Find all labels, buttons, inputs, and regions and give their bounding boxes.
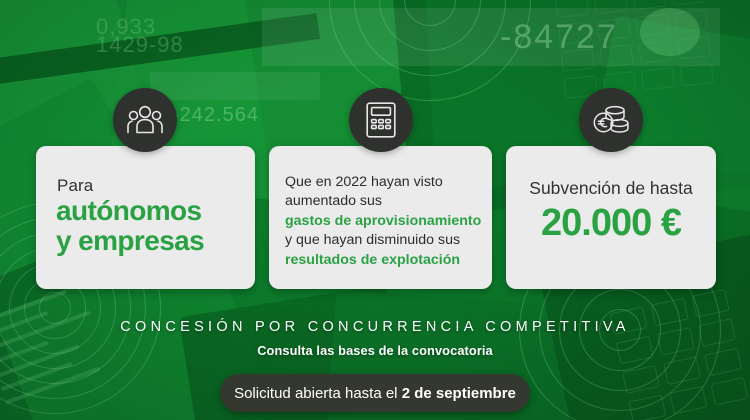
cta-prefix: Solicitud abierta hasta el [234, 385, 402, 402]
cta-date: 2 de septiembre [402, 385, 516, 402]
card-subvencion: Subvención de hasta 20.000 € [506, 146, 716, 289]
badge-calculator [349, 88, 413, 152]
cta-deadline-button[interactable]: Solicitud abierta hasta el 2 de septiemb… [220, 374, 530, 412]
badge-euro-coins [579, 88, 643, 152]
promo-banner: 0,933 1429-98 -84727 -242.564 Para autón… [0, 0, 750, 420]
card-2-line-4: y que hayan disminuido sus [285, 231, 482, 250]
badge-people [113, 88, 177, 152]
card-autonomos: Para autónomos y empresas [36, 146, 255, 289]
card-2-line-3-highlight: gastos de aprovisionamiento [285, 212, 482, 231]
people-group-icon [126, 104, 164, 136]
card-2-text: Que en 2022 hayan visto aumentado sus ga… [285, 173, 482, 270]
card-2-line-1: Que en 2022 hayan visto [285, 173, 482, 192]
card-1-headline: autónomos y empresas [56, 196, 204, 256]
euro-coins-icon [591, 103, 631, 137]
card-2-line-2: aumentado sus [285, 192, 482, 211]
calculator-icon [366, 102, 396, 138]
footer-title: CONCESIÓN POR CONCURRENCIA COMPETITIVA [0, 319, 750, 335]
card-requisitos: Que en 2022 hayan visto aumentado sus ga… [269, 146, 492, 289]
footer-subtitle: Consulta las bases de la convocatoria [0, 343, 750, 358]
card-1-headline-line2: y empresas [56, 226, 204, 256]
card-3-lead: Subvención de hasta [506, 178, 716, 199]
card-1-headline-line1: autónomos [56, 196, 204, 226]
card-3-amount: 20.000 € [506, 202, 716, 245]
card-2-line-5-highlight: resultados de explotación [285, 251, 482, 270]
card-1-lead: Para [57, 176, 93, 196]
